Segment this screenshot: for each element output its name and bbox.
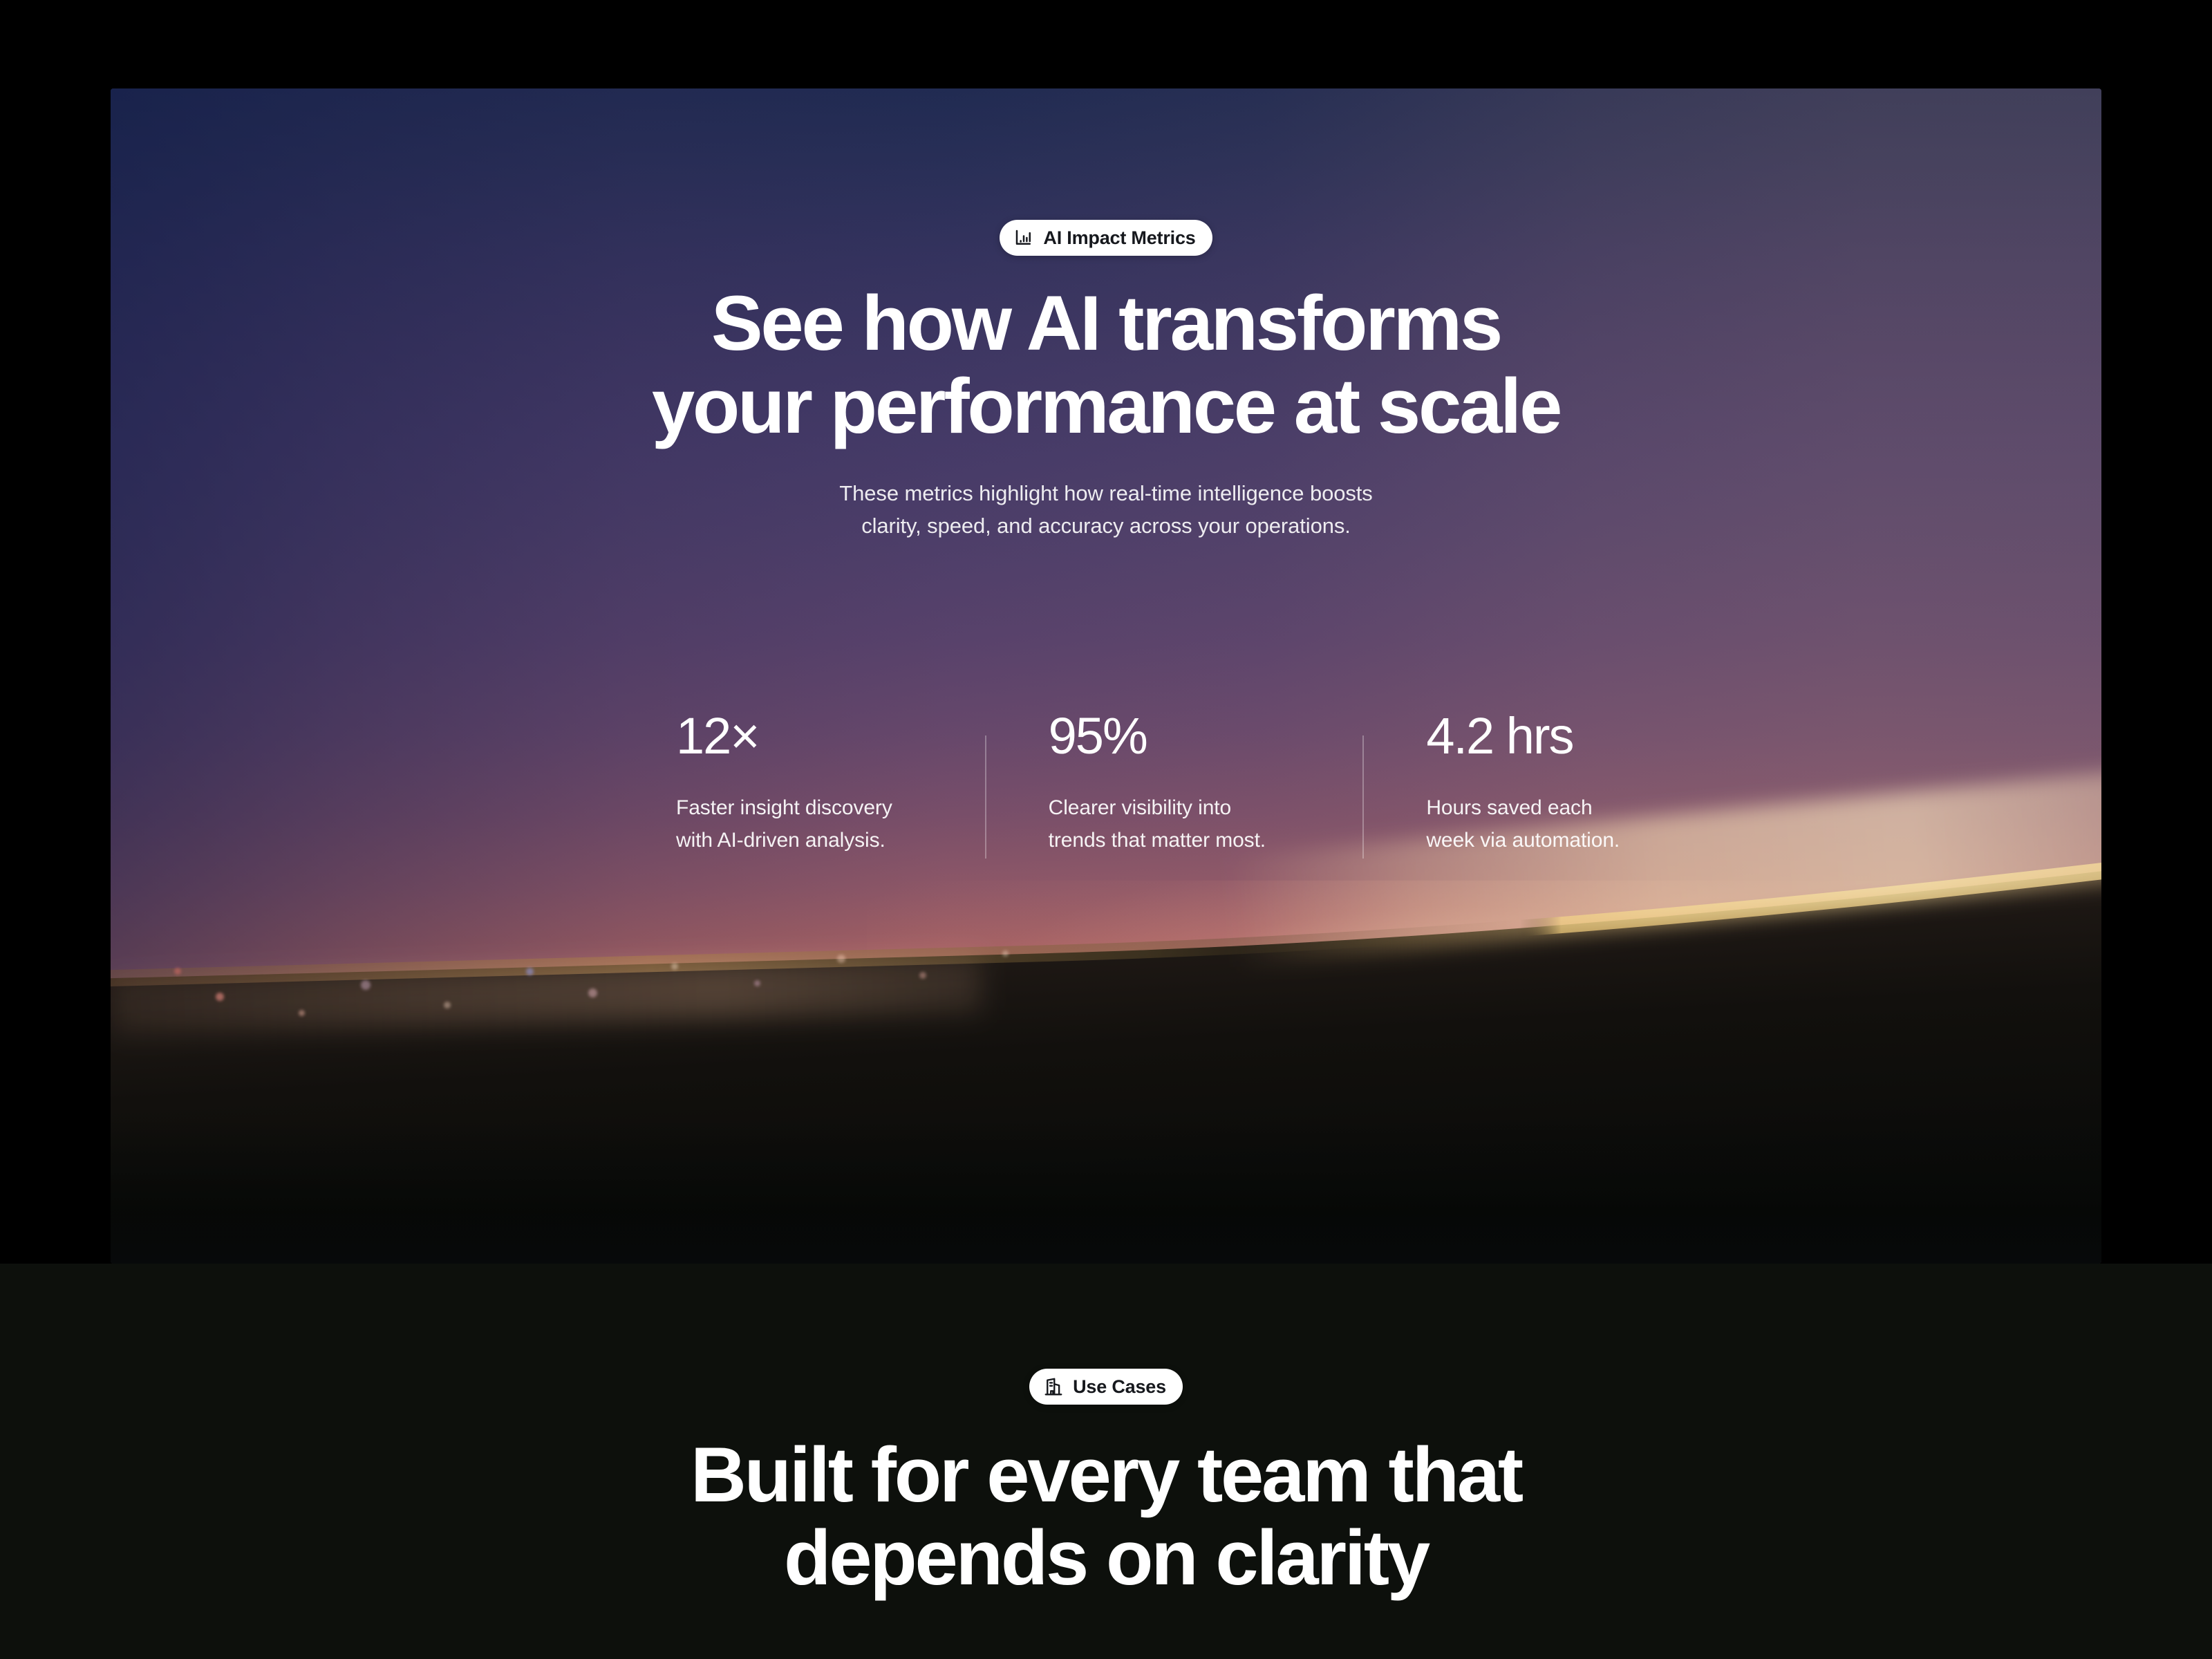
stats-row: 12× Faster insight discovery with AI-dri…	[671, 711, 1804, 857]
stat-value: 4.2 hrs	[1426, 711, 1804, 762]
hero-heading-line-1: See how AI transforms	[711, 280, 1501, 366]
hero-subtitle-line-2: clarity, speed, and accuracy across your…	[861, 514, 1351, 538]
hero-content: AI Impact Metrics See how AI transforms …	[111, 220, 2101, 542]
use-cases-heading-line-2: depends on clarity	[784, 1515, 1428, 1601]
ai-impact-metrics-badge[interactable]: AI Impact Metrics	[1000, 220, 1212, 256]
hero-subtitle-line-1: These metrics highlight how real-time in…	[839, 481, 1372, 505]
hero-subtitle: These metrics highlight how real-time in…	[839, 477, 1372, 542]
stat-desc-line-1: Faster insight discovery	[676, 796, 892, 819]
bokeh-dot	[754, 980, 760, 986]
stat-description: Hours saved each week via automation.	[1426, 792, 1804, 857]
use-cases-badge[interactable]: Use Cases	[1029, 1369, 1183, 1405]
bottom-fade	[111, 1120, 2101, 1264]
bokeh-dot	[361, 980, 371, 990]
stat-description: Faster insight discovery with AI-driven …	[676, 792, 1049, 857]
bokeh-dot	[174, 968, 181, 975]
stat-divider	[985, 735, 986, 859]
badge-label: AI Impact Metrics	[1043, 229, 1195, 247]
stat-value: 12×	[676, 711, 1049, 762]
stat-item: 12× Faster insight discovery with AI-dri…	[671, 711, 1049, 857]
bokeh-dot	[299, 1010, 305, 1016]
bokeh-dot	[837, 955, 845, 963]
badge-label: Use Cases	[1073, 1378, 1166, 1396]
stat-item: 4.2 hrs Hours saved each week via automa…	[1426, 711, 1804, 857]
bar-chart-icon	[1013, 227, 1034, 248]
stat-divider	[1362, 735, 1364, 859]
hero-heading: See how AI transforms your performance a…	[652, 282, 1560, 448]
stat-desc-line-2: week via automation.	[1426, 829, 1620, 852]
stat-item: 95% Clearer visibility into trends that …	[1049, 711, 1427, 857]
meadow-ground	[111, 841, 2101, 1264]
building-icon	[1043, 1376, 1064, 1397]
use-cases-heading: Built for every team that depends on cla…	[691, 1434, 1521, 1600]
stat-desc-line-2: with AI-driven analysis.	[676, 829, 885, 852]
page-root: AI Impact Metrics See how AI transforms …	[0, 0, 2212, 1659]
use-cases-heading-line-1: Built for every team that	[691, 1432, 1521, 1518]
hero-image: AI Impact Metrics See how AI transforms …	[111, 88, 2101, 1264]
stat-desc-line-2: trends that matter most.	[1049, 829, 1266, 852]
bokeh-dot	[526, 968, 534, 975]
stat-value: 95%	[1049, 711, 1427, 762]
use-cases-section: Use Cases Built for every team that depe…	[0, 1264, 2212, 1659]
bokeh-dot	[444, 1002, 451, 1009]
use-cases-content: Use Cases Built for every team that depe…	[691, 1369, 1521, 1600]
stat-desc-line-1: Hours saved each	[1426, 796, 1592, 819]
stat-description: Clearer visibility into trends that matt…	[1049, 792, 1427, 857]
stat-desc-line-1: Clearer visibility into	[1049, 796, 1231, 819]
hero-heading-line-2: your performance at scale	[652, 363, 1560, 449]
